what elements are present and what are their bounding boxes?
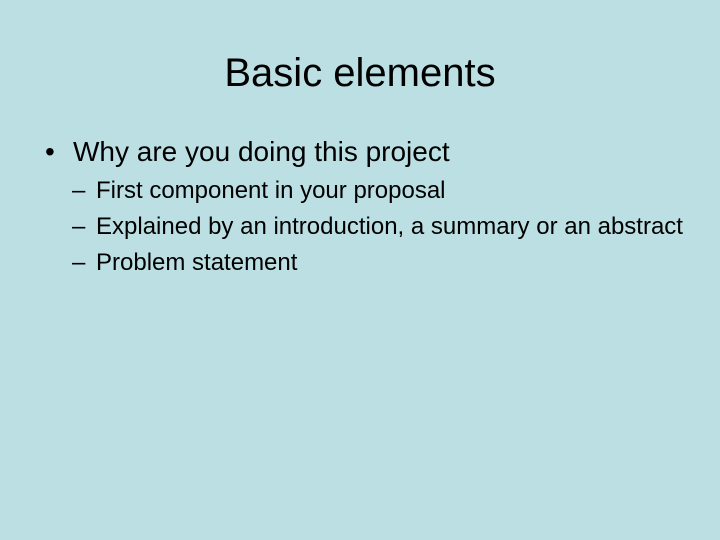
bullet-level1-label: Why are you doing this project (73, 136, 450, 167)
bullet-level2: – First component in your proposal (40, 173, 692, 209)
bullet-dash-icon: – (72, 209, 85, 245)
bullet-level2: – Problem statement (40, 245, 692, 281)
bullet-dash-icon: – (72, 173, 85, 209)
slide: Basic elements • Why are you doing this … (0, 0, 720, 540)
bullet-level2-label: Problem statement (96, 245, 692, 281)
page-title: Basic elements (0, 50, 720, 96)
bullet-level2-label: First component in your proposal (96, 173, 692, 209)
bullet-dot-icon: • (45, 133, 55, 171)
bullet-dash-icon: – (72, 245, 85, 281)
bullet-level2: – Explained by an introduction, a summar… (40, 209, 692, 245)
slide-body: • Why are you doing this project – First… (40, 133, 692, 281)
bullet-level2-label: Explained by an introduction, a summary … (96, 209, 692, 245)
sub-bullet-list: – First component in your proposal – Exp… (40, 173, 692, 281)
bullet-level1: • Why are you doing this project (40, 133, 692, 171)
